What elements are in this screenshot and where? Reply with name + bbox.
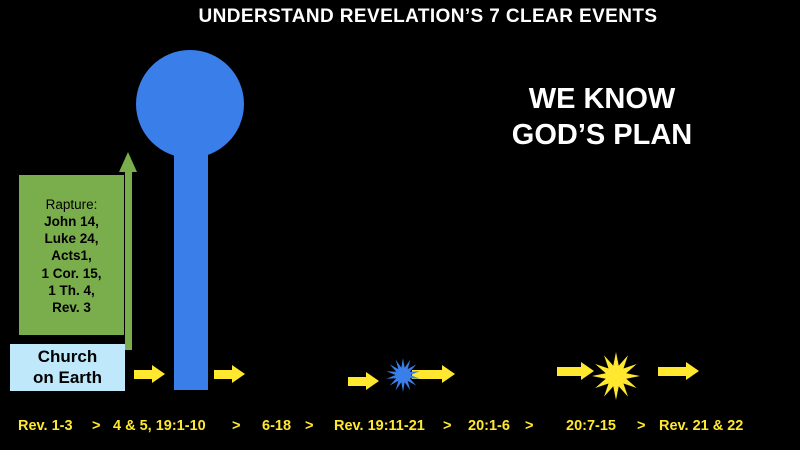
arrow-2-shaft: [214, 370, 232, 379]
rapture-scripture-box: Rapture: John 14, Luke 24, Acts1, 1 Cor.…: [19, 175, 124, 335]
church-line-2: on Earth: [33, 368, 102, 388]
reference-item-2: 4 & 5, 19:1-10: [113, 418, 206, 434]
reference-item-11: >: [637, 418, 645, 434]
rapture-title: Rapture:: [46, 196, 98, 213]
arrow-1-head: [152, 365, 165, 383]
arrow-5-shaft: [557, 367, 581, 376]
blue-column-shape: [174, 118, 208, 390]
arrow-2-head: [232, 365, 245, 383]
arrow-2: [214, 365, 245, 383]
slide-headline-text: UNDERSTAND REVELATION’S 7 CLEAR EVENTS: [199, 6, 658, 28]
reference-item-8: 20:1-6: [468, 418, 510, 434]
reference-item-6: Rev. 19:11-21: [334, 418, 425, 434]
rapture-ref-4: 1 Th. 4,: [48, 282, 95, 299]
reference-item-1: >: [92, 418, 100, 434]
arrow-1-shaft: [134, 370, 152, 379]
church-on-earth-box: Church on Earth: [10, 344, 125, 391]
reference-item-4: 6-18: [262, 418, 291, 434]
reference-item-12: Rev. 21 & 22: [659, 418, 743, 434]
reference-item-5: >: [305, 418, 313, 434]
reference-item-3: >: [232, 418, 240, 434]
reference-item-10: 20:7-15: [566, 418, 616, 434]
rapture-ref-2: Acts1,: [51, 247, 92, 264]
church-line-1: Church: [38, 347, 98, 367]
rapture-ref-0: John 14,: [44, 213, 99, 230]
we-know-line-2: GOD’S PLAN: [452, 118, 752, 154]
burst-yellow: [592, 352, 640, 400]
arrow-3: [348, 372, 379, 390]
we-know-gods-plan-text: WE KNOW GOD’S PLAN: [452, 82, 752, 154]
arrow-1: [134, 365, 165, 383]
reference-item-0: Rev. 1-3: [18, 418, 73, 434]
reference-item-9: >: [525, 418, 533, 434]
arrow-6: [658, 362, 699, 380]
slide-canvas: UNDERSTAND REVELATION’S 7 CLEAR EVENTS W…: [0, 0, 800, 450]
arrow-4-head: [442, 365, 455, 383]
we-know-line-1: WE KNOW: [452, 82, 752, 118]
arrow-3-shaft: [348, 377, 366, 386]
arrow-3-head: [366, 372, 379, 390]
rapture-ref-3: 1 Cor. 15,: [41, 265, 101, 282]
burst-blue: [386, 358, 420, 392]
rapture-ref-5: Rev. 3: [52, 299, 91, 316]
arrow-5: [557, 362, 594, 380]
green-up-arrow-shaft: [125, 168, 132, 350]
arrow-6-head: [686, 362, 699, 380]
rapture-ref-1: Luke 24,: [44, 230, 98, 247]
green-up-arrow-head: [119, 152, 137, 172]
arrow-6-shaft: [658, 367, 686, 376]
reference-item-7: >: [443, 418, 451, 434]
slide-headline: UNDERSTAND REVELATION’S 7 CLEAR EVENTS: [0, 6, 800, 28]
